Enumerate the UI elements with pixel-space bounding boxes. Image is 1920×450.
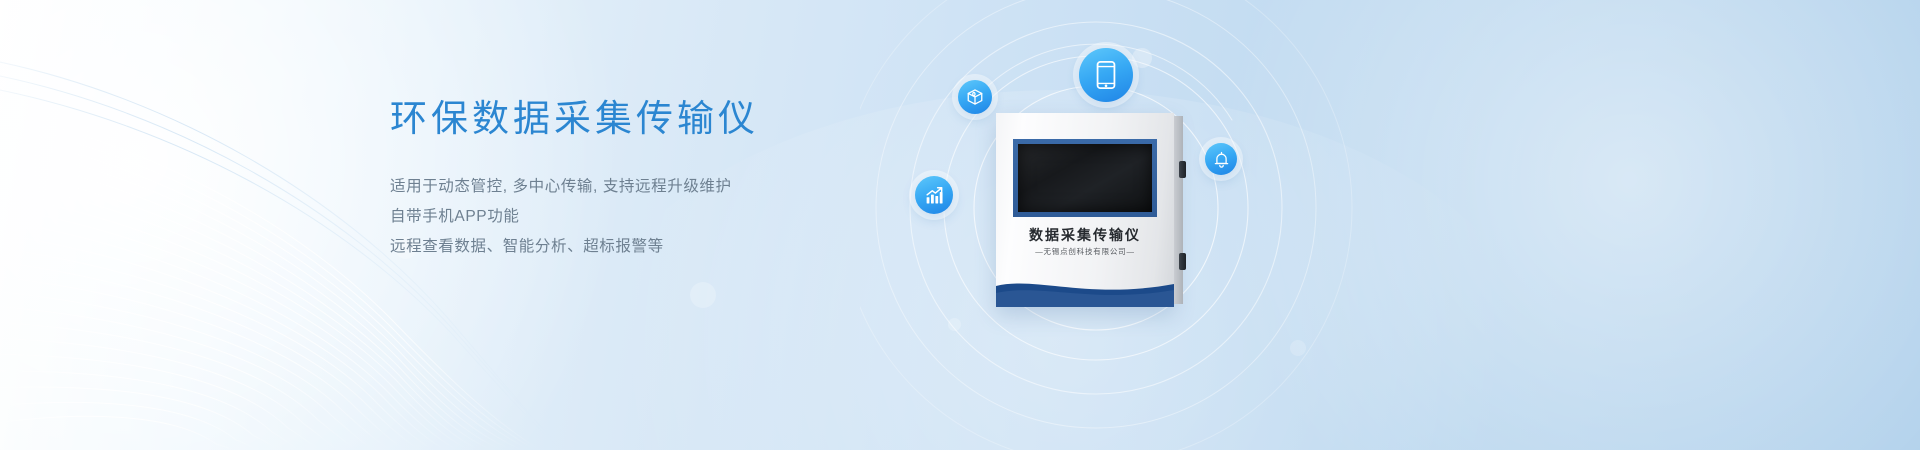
data-acquisition-device: 数据采集传输仪 —无锡点创科技有限公司— bbox=[996, 113, 1174, 307]
cabinet-wave-graphic bbox=[996, 273, 1174, 307]
package-box-icon bbox=[958, 80, 992, 114]
device-screen bbox=[1018, 144, 1152, 212]
subtitle-line: 远程查看数据、智能分析、超标报警等 bbox=[390, 232, 930, 262]
product-banner: 环保数据采集传输仪 适用于动态管控, 多中心传输, 支持远程升级维护 自带手机A… bbox=[0, 0, 1920, 450]
device-company-label: —无锡点创科技有限公司— bbox=[996, 246, 1174, 257]
smartphone-icon bbox=[1079, 48, 1133, 102]
alarm-bell-icon bbox=[1205, 143, 1237, 175]
subtitle-list: 适用于动态管控, 多中心传输, 支持远程升级维护 自带手机APP功能 远程查看数… bbox=[390, 172, 930, 262]
subtitle-line: 适用于动态管控, 多中心传输, 支持远程升级维护 bbox=[390, 172, 930, 202]
banner-copy: 环保数据采集传输仪 适用于动态管控, 多中心传输, 支持远程升级维护 自带手机A… bbox=[390, 96, 930, 262]
subtitle-line: 自带手机APP功能 bbox=[390, 202, 930, 232]
bar-chart-icon bbox=[915, 176, 953, 214]
cabinet-hinge-bottom bbox=[1179, 253, 1186, 270]
page-title: 环保数据采集传输仪 bbox=[390, 96, 930, 142]
bokeh-dot bbox=[690, 282, 716, 308]
device-name-label: 数据采集传输仪 bbox=[996, 225, 1174, 245]
cabinet-side-panel bbox=[1174, 116, 1183, 304]
product-scene: 数据采集传输仪 —无锡点创科技有限公司— bbox=[860, 0, 1920, 450]
cabinet-hinge-top bbox=[1179, 161, 1186, 178]
